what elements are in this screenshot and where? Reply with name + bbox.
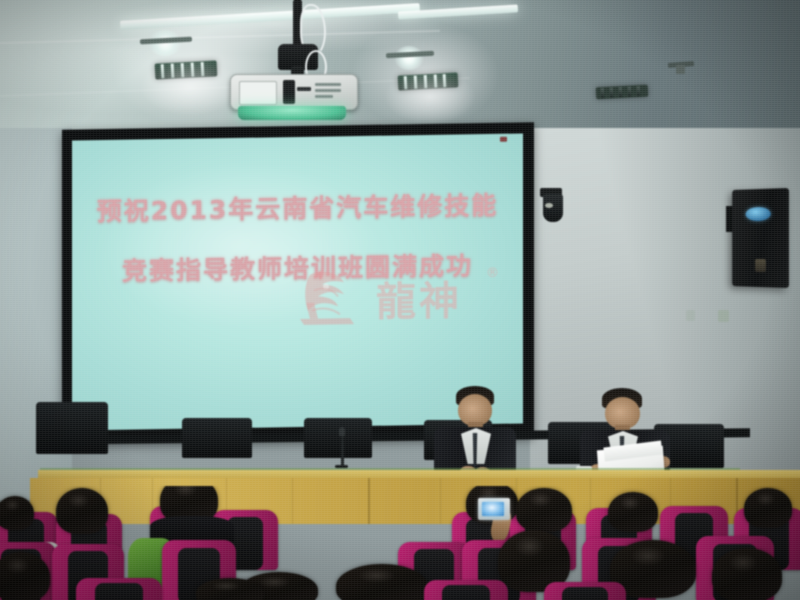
audience-seat[interactable] [424, 580, 508, 600]
camera-screen [482, 502, 504, 516]
stage-chair[interactable] [182, 418, 252, 458]
grille-glow [140, 58, 240, 116]
projector-front-panel [239, 81, 277, 105]
photo-scene: 预祝2013年云南省汽车维修技能 竞赛指导教师培训班圆满成功 [0, 0, 800, 600]
projector-mount-bracket [283, 80, 295, 104]
slide-text-block: 预祝2013年云南省汽车维修技能 竞赛指导教师培训班圆满成功 [72, 185, 523, 288]
audience-seat[interactable] [76, 578, 162, 600]
wall-mark [718, 310, 729, 322]
audience-head [336, 564, 428, 600]
projector-vent [315, 95, 333, 98]
audience-seating [0, 486, 800, 600]
audience-head [196, 578, 264, 600]
slide-line-2: 竞赛指导教师培训班圆满成功 [72, 245, 523, 288]
ceiling-projector [230, 74, 358, 110]
surveillance-camera [543, 194, 563, 222]
audience-head [0, 496, 34, 530]
screen-corner-marker [500, 137, 507, 142]
stage-chair[interactable] [36, 402, 108, 454]
microphone-stem [341, 436, 344, 466]
audience-head [712, 548, 782, 600]
audience-seat[interactable] [544, 582, 626, 600]
audience-head [56, 488, 108, 534]
table-microphone [339, 427, 345, 436]
slide-line-1: 预祝2013年云南省汽车维修技能 [72, 185, 523, 228]
wall-mark [686, 310, 695, 321]
audience-head [744, 488, 792, 528]
projector-lens-glow [238, 106, 346, 120]
speaker-driver [755, 259, 766, 272]
downlight-2 [394, 46, 424, 70]
attendee-camera[interactable] [478, 498, 510, 520]
stage-chair[interactable] [304, 418, 372, 458]
projector-vent [315, 89, 341, 92]
camera-lens-icon [545, 203, 553, 208]
audience-head [608, 492, 658, 532]
projector-connector [297, 87, 311, 91]
projector-vent [315, 83, 341, 86]
unlit-fixture-2-housing [676, 65, 685, 74]
grille-glow [384, 70, 476, 124]
speaker-badge [745, 207, 770, 221]
wall-speaker [732, 188, 789, 288]
audience-head [516, 488, 572, 532]
